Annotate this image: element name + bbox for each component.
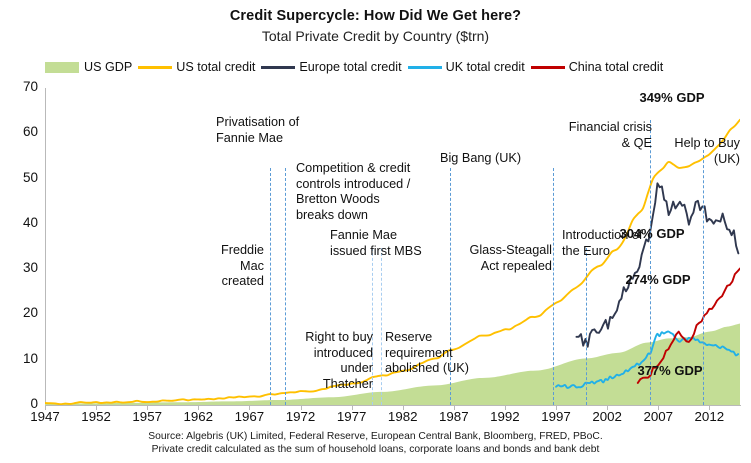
legend-label: US total credit	[176, 60, 255, 74]
x-tick-label: 1977	[337, 409, 367, 424]
x-tick-mark	[301, 405, 302, 410]
legend-item-us-gdp: US GDP	[45, 60, 132, 74]
x-tick-mark	[454, 405, 455, 410]
x-tick-label: 1952	[81, 409, 111, 424]
title-block: Credit Supercycle: How Did We Get here? …	[0, 8, 751, 44]
chart-legend: US GDPUS total creditEurope total credit…	[45, 60, 745, 74]
x-tick-mark	[96, 405, 97, 410]
source-footer: Source: Algebris (UK) Limited, Federal R…	[0, 431, 751, 456]
vline-introduction-of-the-euro	[586, 248, 587, 405]
x-tick-label: 2007	[643, 409, 673, 424]
legend-label: UK total credit	[446, 60, 525, 74]
label-us-gdp-pct: 349% GDP	[639, 90, 704, 105]
x-tick-label: 1982	[388, 409, 418, 424]
y-tick-label: 70	[0, 79, 38, 94]
x-tick-mark	[403, 405, 404, 410]
x-tick-label: 1972	[286, 409, 316, 424]
y-tick-label: 20	[0, 305, 38, 320]
x-tick-mark	[249, 405, 250, 410]
x-tick-mark	[198, 405, 199, 410]
x-tick-label: 1962	[184, 409, 214, 424]
legend-swatch-area	[45, 62, 79, 73]
x-tick-label: 1947	[30, 409, 60, 424]
x-tick-label: 1992	[490, 409, 520, 424]
legend-swatch-line	[408, 66, 442, 69]
annotation-competition-credit-controls: Competition & credit controls introduced…	[296, 161, 410, 223]
legend-swatch-line	[138, 66, 172, 69]
legend-label: US GDP	[84, 60, 132, 74]
x-tick-label: 1987	[439, 409, 469, 424]
y-tick-label: 50	[0, 170, 38, 185]
legend-swatch-line	[261, 66, 295, 69]
legend-label: Europe total credit	[299, 60, 401, 74]
x-tick-mark	[147, 405, 148, 410]
annotation-help-to-buy-uk: Help to Buy (UK)	[0, 136, 740, 167]
label-uk-gdp-pct: 377% GDP	[637, 363, 702, 378]
x-tick-mark	[556, 405, 557, 410]
x-tick-label: 1957	[132, 409, 162, 424]
legend-label: China total credit	[569, 60, 664, 74]
x-tick-mark	[709, 405, 710, 410]
x-tick-mark	[352, 405, 353, 410]
source-line-2: Private credit calculated as the sum of …	[0, 444, 751, 457]
y-tick-label: 40	[0, 215, 38, 230]
x-tick-label: 2002	[592, 409, 622, 424]
legend-item-us-total-credit: US total credit	[132, 60, 255, 74]
x-tick-mark	[505, 405, 506, 410]
chart-subtitle: Total Private Credit by Country ($trn)	[0, 28, 751, 44]
x-tick-label: 2012	[695, 409, 725, 424]
label-europe-gdp-pct: 304% GDP	[619, 226, 684, 241]
annotation-reserve-requirement-abolished: Reserve requirement abolished (UK)	[385, 330, 469, 377]
source-line-1: Source: Algebris (UK) Limited, Federal R…	[0, 431, 751, 444]
x-tick-mark	[607, 405, 608, 410]
x-tick-mark	[658, 405, 659, 410]
legend-swatch-line	[531, 66, 565, 69]
vline-glass-steagall-repealed	[553, 168, 554, 405]
credit-supercycle-chart: Credit Supercycle: How Did We Get here? …	[0, 0, 751, 463]
vline-help-to-buy-uk	[703, 150, 704, 405]
x-tick-label: 1997	[541, 409, 571, 424]
x-tick-mark	[45, 405, 46, 410]
x-axis-line	[45, 405, 741, 406]
legend-item-uk-total-credit: UK total credit	[402, 60, 525, 74]
legend-item-europe-total-credit: Europe total credit	[255, 60, 401, 74]
page-title: Credit Supercycle: How Did We Get here?	[0, 8, 751, 24]
annotation-glass-steagall-repealed: Glass-Steagall Act repealed	[0, 243, 552, 274]
x-tick-label: 1967	[235, 409, 265, 424]
annotation-right-to-buy-thatcher: Right to buy introduced under Thatcher	[0, 330, 373, 392]
legend-item-china-total-credit: China total credit	[525, 60, 664, 74]
label-china-gdp-pct: 274% GDP	[625, 272, 690, 287]
